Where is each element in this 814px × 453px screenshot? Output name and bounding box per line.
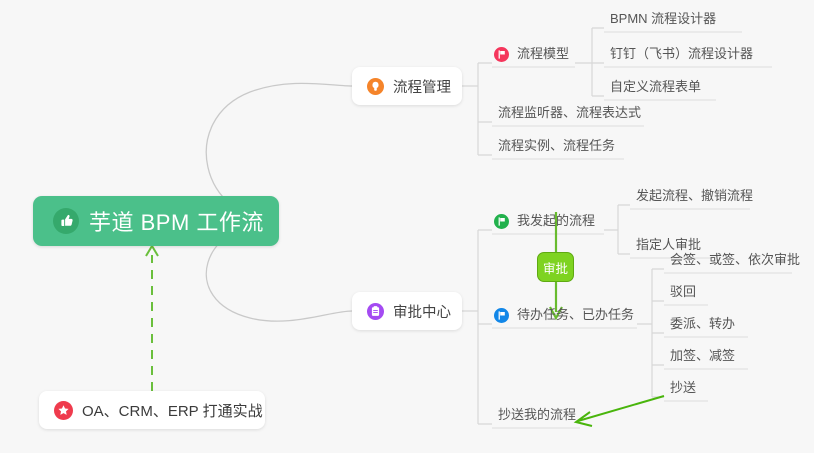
connector-process-management-spine (462, 63, 492, 155)
leaf-custom-form[interactable]: 自定义流程表单 (604, 78, 707, 100)
leaf-bpmn-designer-label: BPMN 流程设计器 (610, 8, 716, 27)
tag-approval-label: 审批 (543, 258, 568, 277)
leaf-process-instance[interactable]: 流程实例、流程任务 (492, 137, 621, 159)
branch-process-management[interactable]: 流程管理 (352, 67, 462, 105)
leaf-cc-my-processes[interactable]: 抄送我的流程 (492, 406, 582, 428)
leaf-cc-label: 抄送 (670, 377, 696, 396)
callout-oa-crm-erp[interactable]: OA、CRM、ERP 打通实战 (39, 391, 265, 429)
connector-process-model-spine (575, 28, 604, 96)
leaf-process-instance-label: 流程实例、流程任务 (498, 135, 615, 154)
connector-approval-center-spine (462, 230, 492, 424)
leaf-my-processes-label: 我发起的流程 (517, 210, 595, 229)
leaf-reject-label: 驳回 (670, 281, 696, 300)
branch-approval-center-label: 审批中心 (393, 301, 451, 322)
leaf-delegate-transfer[interactable]: 委派、转办 (664, 315, 741, 337)
leaf-process-listener-label: 流程监听器、流程表达式 (498, 102, 641, 121)
star-icon (54, 401, 73, 420)
clipboard-icon (367, 303, 384, 320)
leaf-start-cancel-process-label: 发起流程、撤销流程 (636, 185, 753, 204)
root-node[interactable]: 芋道 BPM 工作流 (33, 196, 279, 246)
flag-icon (494, 47, 509, 62)
leaf-dingtalk-designer-label: 钉钉（飞书）流程设计器 (610, 43, 753, 62)
dashed-arrow-to-root (146, 246, 158, 391)
leaf-start-cancel-process[interactable]: 发起流程、撤销流程 (630, 187, 759, 209)
leaf-add-remove-sign-label: 加签、减签 (670, 345, 735, 364)
leaf-delegate-transfer-label: 委派、转办 (670, 313, 735, 332)
leaf-bpmn-designer[interactable]: BPMN 流程设计器 (604, 10, 722, 32)
leaf-countersign-label: 会签、或签、依次审批 (670, 249, 800, 268)
connector-my-processes-spine (604, 205, 630, 254)
cc-flow-arrow (576, 396, 664, 426)
leaf-custom-form-label: 自定义流程表单 (610, 76, 701, 95)
leaf-cc-my-processes-label: 抄送我的流程 (498, 404, 576, 423)
leaf-todo-tasks-label: 待办任务、已办任务 (517, 304, 634, 323)
lightbulb-icon (367, 78, 384, 95)
tag-approval[interactable]: 审批 (537, 252, 574, 282)
leaf-dingtalk-designer[interactable]: 钉钉（飞书）流程设计器 (604, 45, 759, 67)
leaf-cc[interactable]: 抄送 (664, 379, 702, 401)
leaf-todo-tasks[interactable]: 待办任务、已办任务 (492, 306, 640, 328)
root-label: 芋道 BPM 工作流 (89, 205, 264, 237)
branch-process-management-label: 流程管理 (393, 76, 451, 97)
leaf-process-listener[interactable]: 流程监听器、流程表达式 (492, 104, 647, 126)
leaf-my-processes[interactable]: 我发起的流程 (492, 212, 601, 234)
thumbs-up-icon (53, 208, 79, 234)
leaf-add-remove-sign[interactable]: 加签、减签 (664, 347, 741, 369)
leaf-countersign[interactable]: 会签、或签、依次审批 (664, 251, 806, 273)
flag-icon (494, 308, 509, 323)
connector-todo-tasks-spine (637, 269, 664, 397)
branch-approval-center[interactable]: 审批中心 (352, 292, 462, 330)
flag-icon (494, 214, 509, 229)
mindmap-canvas: 芋道 BPM 工作流 流程管理 审批中心 (0, 0, 814, 453)
leaf-process-model-label: 流程模型 (517, 43, 569, 62)
leaf-reject[interactable]: 驳回 (664, 283, 702, 305)
callout-oa-crm-erp-label: OA、CRM、ERP 打通实战 (82, 400, 263, 421)
leaf-process-model[interactable]: 流程模型 (492, 45, 575, 67)
